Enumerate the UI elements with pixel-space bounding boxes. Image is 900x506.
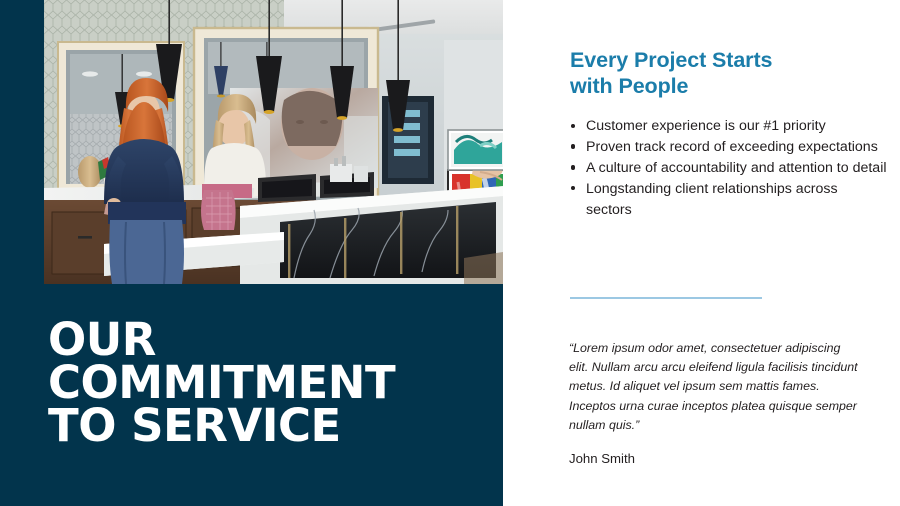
page-title: OUR COMMITMENT TO SERVICE bbox=[48, 318, 488, 447]
list-item: Customer experience is our #1 priority bbox=[567, 116, 887, 137]
bullet-dot-icon bbox=[571, 186, 575, 190]
slide-canvas: OUR COMMITMENT TO SERVICE Every Project … bbox=[0, 0, 900, 506]
list-item: Proven track record of exceeding expecta… bbox=[567, 137, 887, 158]
reception-photo-illustration bbox=[44, 0, 503, 284]
benefits-bullet-list: Customer experience is our #1 priority P… bbox=[567, 116, 887, 221]
section-divider bbox=[570, 297, 762, 299]
right-content-panel: Every Project Starts with People Custome… bbox=[503, 0, 900, 506]
section-heading: Every Project Starts with People bbox=[570, 47, 880, 99]
list-item-label: Longstanding client relationships across… bbox=[586, 181, 838, 218]
bullet-dot-icon bbox=[571, 144, 575, 148]
page-title-line-1: OUR bbox=[48, 318, 488, 361]
bullet-dot-icon bbox=[571, 124, 575, 128]
reception-photo bbox=[44, 0, 503, 284]
page-title-line-2: COMMITMENT bbox=[48, 361, 488, 404]
list-item: A culture of accountability and attentio… bbox=[567, 158, 887, 179]
testimonial-attribution: John Smith bbox=[569, 450, 635, 468]
bullet-dot-icon bbox=[571, 165, 575, 169]
list-item-label: A culture of accountability and attentio… bbox=[586, 160, 887, 176]
page-title-line-3: TO SERVICE bbox=[48, 404, 488, 447]
section-heading-line-2: with People bbox=[570, 73, 880, 99]
list-item: Longstanding client relationships across… bbox=[567, 179, 887, 221]
list-item-label: Proven track record of exceeding expecta… bbox=[586, 139, 878, 155]
list-item-label: Customer experience is our #1 priority bbox=[586, 118, 826, 134]
testimonial-quote: “Lorem ipsum odor amet, consectetuer adi… bbox=[569, 339, 859, 435]
section-heading-line-1: Every Project Starts bbox=[570, 47, 880, 73]
